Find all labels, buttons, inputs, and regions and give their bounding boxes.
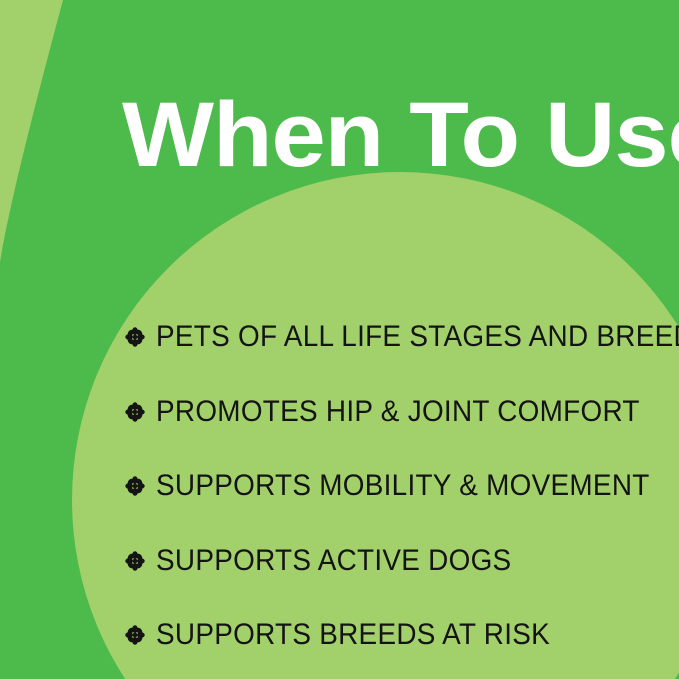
list-item: PETS OF ALL LIFE STAGES AND BREEDS <box>124 300 669 375</box>
flower-bullet-icon <box>124 401 146 423</box>
list-item-label: PROMOTES HIP & JOINT COMFORT <box>156 396 640 428</box>
infographic-canvas: When To Use PETS OF A <box>0 0 679 679</box>
list-item: SUPPORTS BREEDS AT RISK <box>124 598 669 673</box>
list-item: SUPPORTS ACTIVE DOGS <box>124 524 669 599</box>
page-title: When To Use <box>122 84 679 186</box>
list-item: PROMOTES HIP & JOINT COMFORT <box>124 375 669 450</box>
list-item: SUPPORTS MOBILITY & MOVEMENT <box>124 449 669 524</box>
flower-bullet-icon <box>124 550 146 572</box>
list-item-label: SUPPORTS BREEDS AT RISK <box>156 619 550 651</box>
flower-bullet-icon <box>124 624 146 646</box>
list-item-label: SUPPORTS ACTIVE DOGS <box>156 545 511 577</box>
flower-bullet-icon <box>124 475 146 497</box>
content-layer: When To Use PETS OF A <box>0 0 679 679</box>
flower-bullet-icon <box>124 326 146 348</box>
list-item-label: PETS OF ALL LIFE STAGES AND BREEDS <box>156 321 679 353</box>
list-item-label: SUPPORTS MOBILITY & MOVEMENT <box>156 470 650 502</box>
benefit-list: PETS OF ALL LIFE STAGES AND BREEDS <box>124 300 669 673</box>
